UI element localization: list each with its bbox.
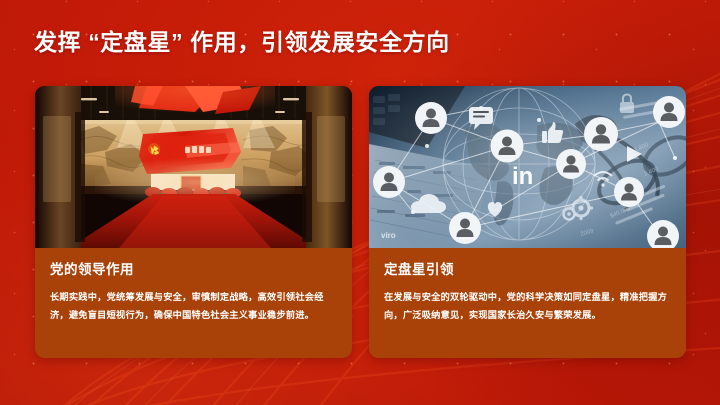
card-image-party-hall [35,86,352,248]
card-row: 党的领导作用 长期实践中，党统筹发展与安全，审慎制定战略，高效引领社会经济，避免… [35,86,686,358]
card-title: 定盘星引领 [384,262,671,278]
card-image-social-network: viro [369,86,686,248]
card-body-party-leadership: 党的领导作用 长期实践中，党统筹发展与安全，审慎制定战略，高效引领社会经济，避免… [35,248,352,358]
card-title: 党的领导作用 [50,262,337,278]
card-body-compass-guidance: 定盘星引领 在发展与安全的双轮驱动中，党的科学决策如同定盘星，精准把握方向，广泛… [369,248,686,358]
card-compass-guidance[interactable]: viro [369,86,686,358]
card-description: 长期实践中，党统筹发展与安全，审慎制定战略，高效引领社会经济，避免盲目短视行为，… [50,289,337,324]
card-description: 在发展与安全的双轮驱动中，党的科学决策如同定盘星，精准把握方向，广泛吸纳意见，实… [384,289,671,324]
slide-root: 发挥 “定盘星” 作用，引领发展安全方向 [0,0,720,405]
svg-text:in: in [512,163,533,190]
page-title: 发挥 “定盘星” 作用，引领发展安全方向 [34,28,450,58]
card-party-leadership[interactable]: 党的领导作用 长期实践中，党统筹发展与安全，审慎制定战略，高效引领社会经济，避免… [35,86,352,358]
